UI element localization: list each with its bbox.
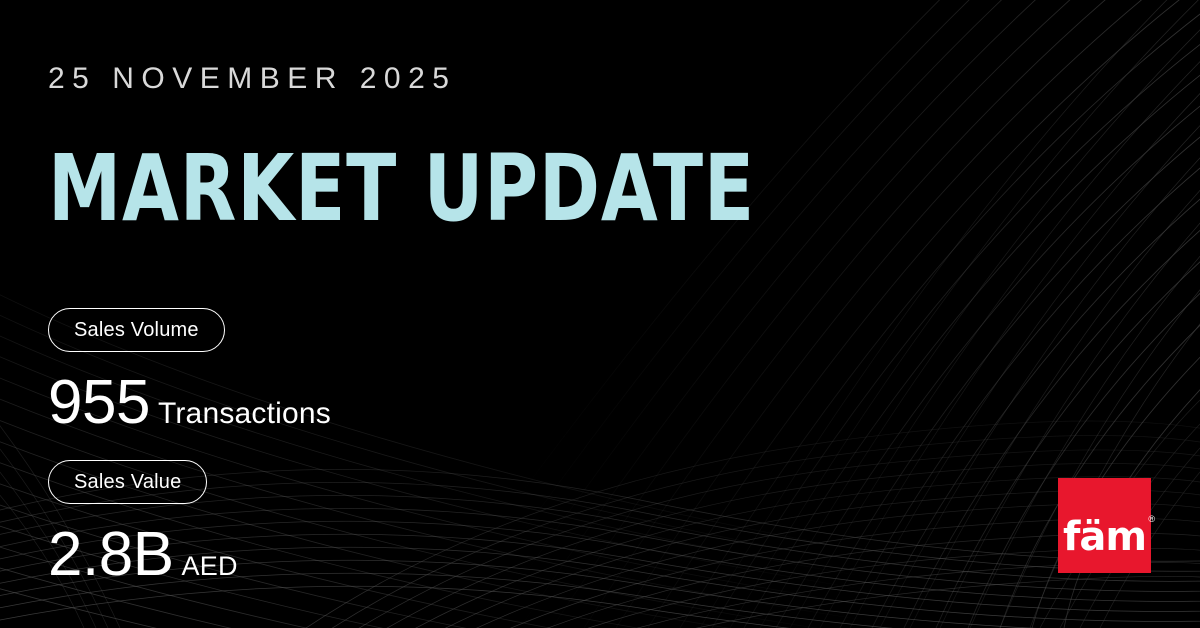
sales-value-value: 2.8B (48, 524, 174, 586)
sales-value-stat: 2.8B AED (48, 524, 238, 586)
fam-wordmark: fäm (1063, 514, 1146, 560)
content-block: 25 NOVEMBER 2025 MARKET UPDATE Sales Vol… (48, 0, 748, 628)
fam-logo-inner: fäm ® (1063, 517, 1146, 557)
sales-value-pill: Sales Value (48, 460, 207, 504)
market-update-graphic: 25 NOVEMBER 2025 MARKET UPDATE Sales Vol… (0, 0, 1200, 628)
sales-volume-value: 955 (48, 372, 150, 434)
page-title: MARKET UPDATE (48, 143, 755, 235)
sales-value-unit: AED (182, 551, 238, 581)
registered-trademark-icon: ® (1148, 515, 1155, 524)
sales-volume-pill: Sales Volume (48, 308, 225, 352)
sales-volume-unit: Transactions (158, 399, 331, 429)
fam-logo: fäm ® (1058, 478, 1151, 573)
date-label: 25 NOVEMBER 2025 (48, 62, 456, 96)
sales-volume-stat: 955 Transactions (48, 372, 331, 434)
